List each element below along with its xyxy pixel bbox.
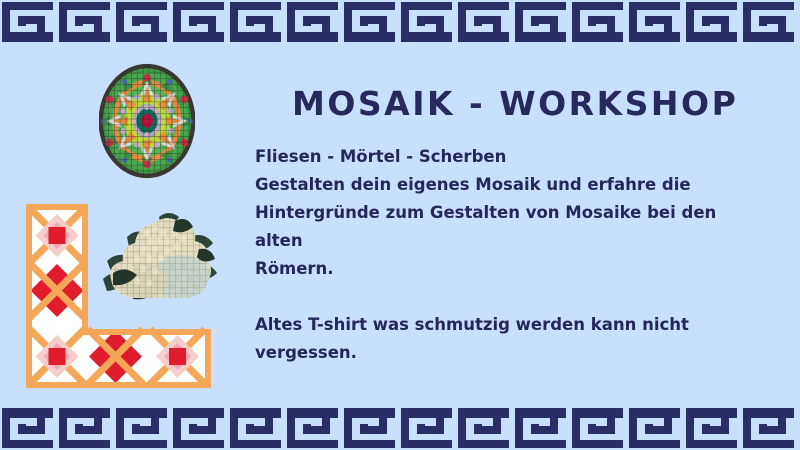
slide-canvas: MOSAIK - WORKSHOP Fliesen - Mörtel - Sch… (0, 0, 800, 450)
body-line-4: Römern. (255, 255, 755, 283)
greek-key-border-bottom (0, 404, 800, 450)
circular-mosaic-mandala (99, 62, 195, 180)
page-title: MOSAIK - WORKSHOP (292, 84, 712, 123)
body-line-1: Fliesen - Mörtel - Scherben (255, 143, 755, 171)
body-line-2: Gestalten dein eigenes Mosaik und erfahr… (255, 171, 755, 199)
greek-key-border-top (0, 0, 800, 46)
paragraph-spacer (255, 283, 755, 311)
body-text-block: Fliesen - Mörtel - Scherben Gestalten de… (255, 143, 755, 367)
body-line-3: Hintergründe zum Gestalten von Mosaike b… (255, 199, 755, 255)
body-line-5: Altes T-shirt was schmutzig werden kann … (255, 311, 755, 339)
grapes-mosaic-artwork (103, 203, 218, 303)
body-line-6: vergessen. (255, 339, 755, 367)
